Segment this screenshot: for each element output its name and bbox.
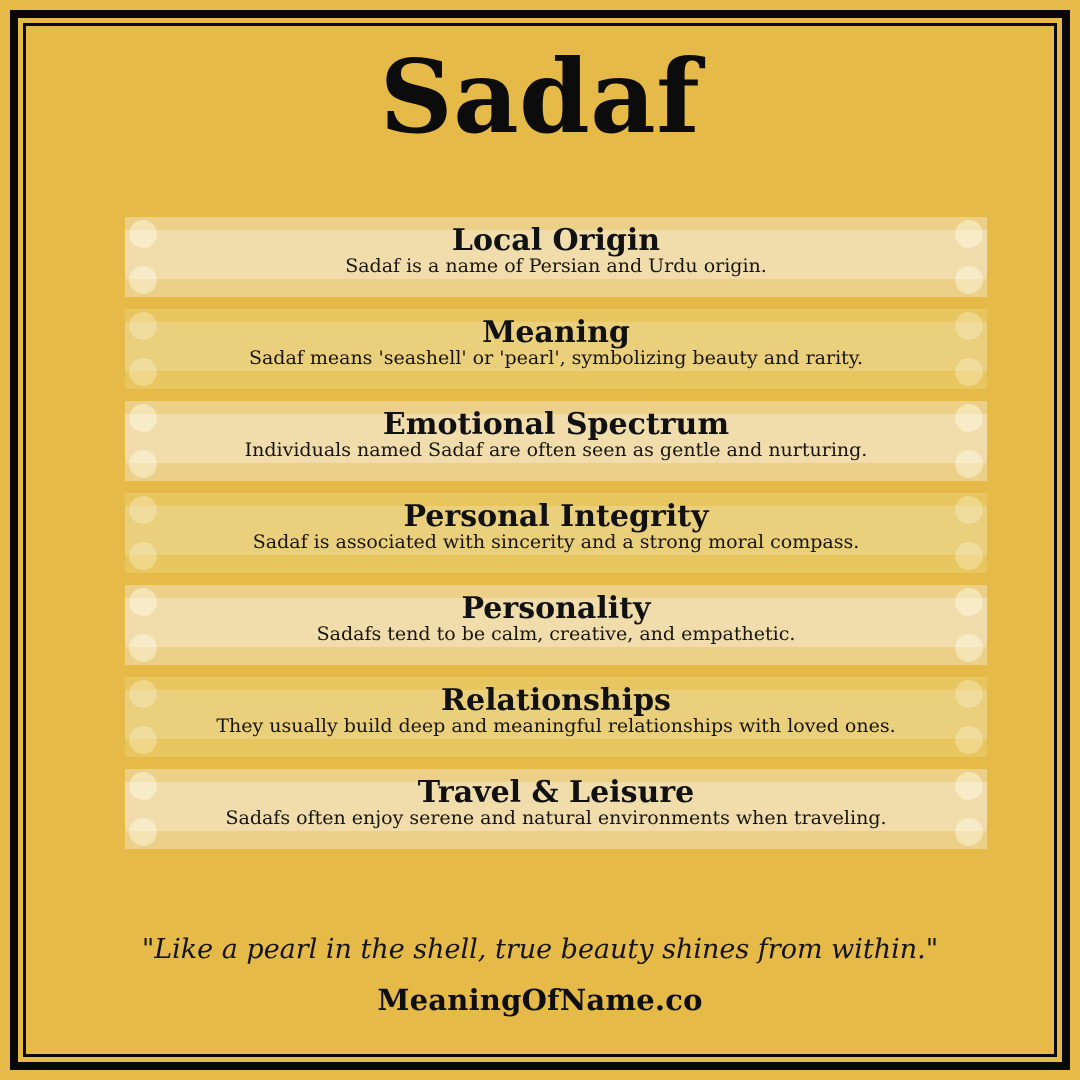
card-heading: Meaning (125, 318, 987, 348)
card-heading: Travel & Leisure (125, 778, 987, 808)
card-text: Travel & LeisureSadafs often enjoy seren… (125, 778, 987, 828)
page-title: Sadaf (26, 40, 1054, 153)
attribute-card: Travel & LeisureSadafs often enjoy seren… (125, 769, 987, 849)
attribute-card: Emotional SpectrumIndividuals named Sada… (125, 401, 987, 481)
card-text: PersonalitySadafs tend to be calm, creat… (125, 594, 987, 644)
name-meaning-poster: Sadaf Local OriginSadaf is a name of Per… (0, 0, 1080, 1080)
card-heading: Personality (125, 594, 987, 624)
attribute-card: Local OriginSadaf is a name of Persian a… (125, 217, 987, 297)
card-heading: Personal Integrity (125, 502, 987, 532)
attribute-card: Personal IntegritySadaf is associated wi… (125, 493, 987, 573)
card-description: Sadaf is associated with sincerity and a… (125, 533, 987, 552)
card-description: Sadaf means 'seashell' or 'pearl', symbo… (125, 349, 987, 368)
attribute-card: PersonalitySadafs tend to be calm, creat… (125, 585, 987, 665)
footer-brand: MeaningOfName.co (26, 983, 1054, 1018)
attribute-card-list: Local OriginSadaf is a name of Persian a… (125, 217, 987, 861)
card-description: They usually build deep and meaningful r… (125, 717, 987, 736)
attribute-card: MeaningSadaf means 'seashell' or 'pearl'… (125, 309, 987, 389)
card-text: Personal IntegritySadaf is associated wi… (125, 502, 987, 552)
card-heading: Emotional Spectrum (125, 410, 987, 440)
card-description: Individuals named Sadaf are often seen a… (125, 441, 987, 460)
poster-outer-border: Sadaf Local OriginSadaf is a name of Per… (10, 10, 1070, 1070)
card-description: Sadafs often enjoy serene and natural en… (125, 809, 987, 828)
card-heading: Relationships (125, 686, 987, 716)
card-description: Sadafs tend to be calm, creative, and em… (125, 625, 987, 644)
card-description: Sadaf is a name of Persian and Urdu orig… (125, 257, 987, 276)
card-text: RelationshipsThey usually build deep and… (125, 686, 987, 736)
card-text: Emotional SpectrumIndividuals named Sada… (125, 410, 987, 460)
poster-inner-border: Sadaf Local OriginSadaf is a name of Per… (23, 23, 1057, 1057)
footer-quote: "Like a pearl in the shell, true beauty … (26, 934, 1054, 966)
poster-footer: "Like a pearl in the shell, true beauty … (26, 934, 1054, 1018)
card-text: MeaningSadaf means 'seashell' or 'pearl'… (125, 318, 987, 368)
attribute-card: RelationshipsThey usually build deep and… (125, 677, 987, 757)
card-text: Local OriginSadaf is a name of Persian a… (125, 226, 987, 276)
card-heading: Local Origin (125, 226, 987, 256)
